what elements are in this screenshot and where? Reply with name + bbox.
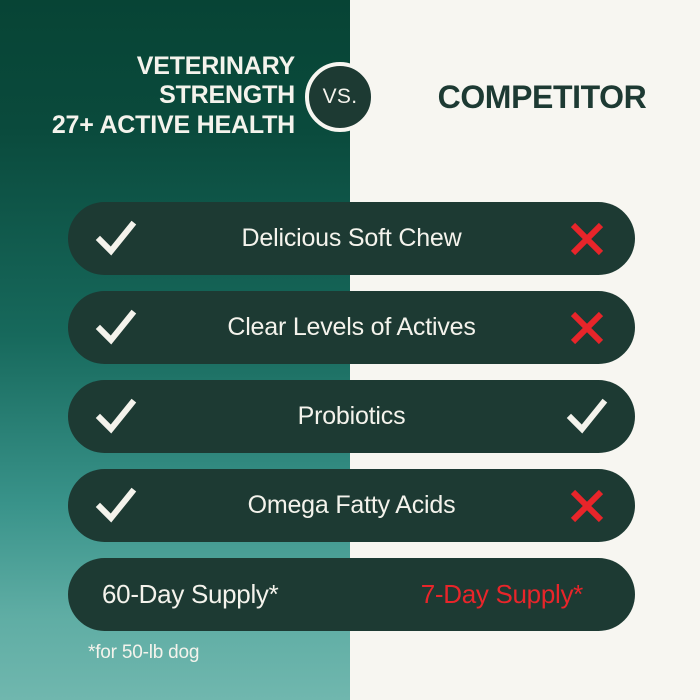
- check-icon: [68, 395, 164, 439]
- header: VETERINARY STRENGTH 27+ ACTIVE HEALTH VS…: [0, 0, 700, 190]
- check-icon: [68, 484, 164, 528]
- table-row: Delicious Soft Chew: [68, 202, 635, 275]
- supply-own-label: 60-Day Supply*: [102, 579, 278, 610]
- feature-label: Probiotics: [164, 402, 539, 431]
- table-row: Probiotics: [68, 380, 635, 453]
- cross-icon: [539, 219, 635, 259]
- brand-heading-line-1: VETERINARY: [0, 52, 295, 81]
- vs-badge: VS.: [305, 62, 375, 132]
- feature-label: Delicious Soft Chew: [164, 224, 539, 253]
- brand-heading: VETERINARY STRENGTH 27+ ACTIVE HEALTH: [0, 52, 305, 140]
- table-row: Omega Fatty Acids: [68, 469, 635, 542]
- supply-row: 60-Day Supply* 7-Day Supply*: [68, 558, 635, 631]
- feature-label: Omega Fatty Acids: [164, 491, 539, 520]
- vs-badge-label: VS.: [323, 85, 358, 109]
- cross-icon: [539, 308, 635, 348]
- check-icon: [539, 395, 635, 439]
- footnote: *for 50-lb dog: [88, 642, 199, 664]
- feature-label: Clear Levels of Actives: [164, 313, 539, 342]
- brand-heading-line-3: 27+ ACTIVE HEALTH: [0, 111, 295, 140]
- check-icon: [68, 306, 164, 350]
- competitor-heading: COMPETITOR: [392, 52, 692, 142]
- comparison-rows: Delicious Soft Chew Clear Levels of Acti…: [68, 202, 635, 647]
- comparison-graphic: VETERINARY STRENGTH 27+ ACTIVE HEALTH VS…: [0, 0, 700, 700]
- cross-icon: [539, 486, 635, 526]
- check-icon: [68, 217, 164, 261]
- brand-heading-line-2: STRENGTH: [0, 81, 295, 110]
- supply-competitor-label: 7-Day Supply*: [421, 579, 601, 610]
- table-row: Clear Levels of Actives: [68, 291, 635, 364]
